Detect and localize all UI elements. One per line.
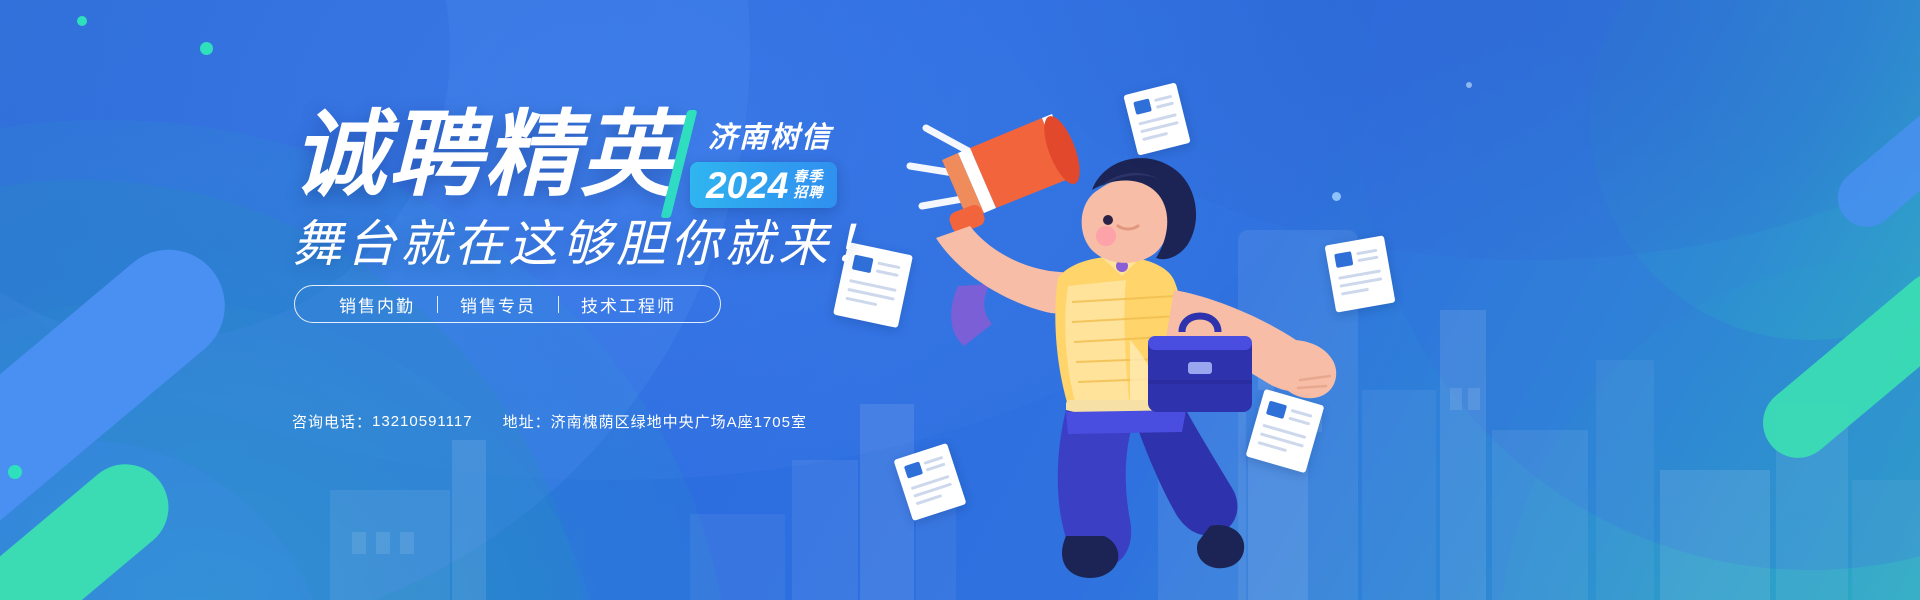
phone-value: 13210591117	[372, 413, 473, 430]
phone-label: 咨询电话：	[292, 411, 372, 432]
banner-content: 诚聘精英 济南树信 2024 春季 招聘 舞台就在这够胆你就来！ 销售内勤 销售…	[0, 0, 1920, 600]
job-tag-technical-engineer[interactable]: 技术工程师	[559, 292, 698, 317]
page-title: 诚聘精英	[292, 108, 676, 202]
job-tag-sales-assistant[interactable]: 销售内勤	[317, 292, 437, 317]
recruitment-banner: 诚聘精英 济南树信 2024 春季 招聘 舞台就在这够胆你就来！ 销售内勤 销售…	[0, 0, 1920, 600]
contact-info: 咨询电话： 13210591117 地址： 济南槐荫区绿地中央广场A座1705室	[292, 411, 807, 432]
job-tag-sales-specialist[interactable]: 销售专员	[438, 292, 558, 317]
address-label: 地址：	[503, 411, 551, 432]
year-badge: 2024 春季 招聘	[690, 162, 837, 208]
job-tags: 销售内勤 销售专员 技术工程师	[294, 285, 721, 323]
headline-row: 诚聘精英 济南树信 2024 春季 招聘	[292, 108, 837, 208]
badge-season-line2: 招聘	[793, 185, 823, 201]
company-name: 济南树信	[708, 114, 837, 156]
badge-year: 2024	[706, 167, 788, 204]
badge-season-line1: 春季	[793, 169, 823, 185]
address-value: 济南槐荫区绿地中央广场A座1705室	[551, 411, 807, 432]
badge-season: 春季 招聘	[793, 169, 823, 200]
badge-block: 济南树信 2024 春季 招聘	[690, 114, 837, 208]
subtitle: 舞台就在这够胆你就来！	[292, 204, 886, 276]
